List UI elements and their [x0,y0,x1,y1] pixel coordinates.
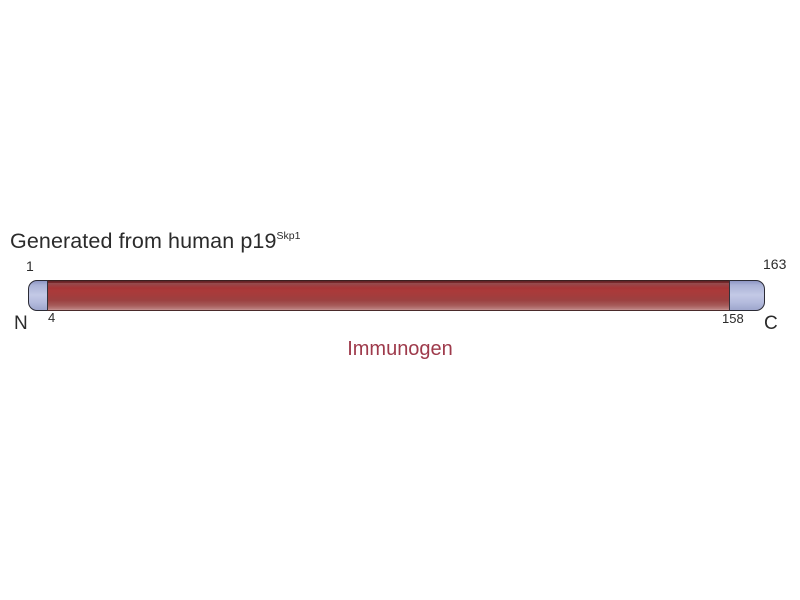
figure-root: Generated from human p19Skp1 1 163 4 158… [0,0,800,600]
residue-label-start: 1 [26,258,34,274]
c-terminus-label: C [764,313,778,335]
n-terminus-label: N [14,313,28,335]
immunogen-region-bar [47,280,730,311]
protein-domain-diagram: 1 163 4 158 N C Immunogen [0,0,800,600]
immunogen-caption: Immunogen [0,338,800,361]
immunogen-end-label: 158 [722,311,744,326]
residue-label-end: 163 [763,256,786,272]
immunogen-start-label: 4 [48,310,55,325]
